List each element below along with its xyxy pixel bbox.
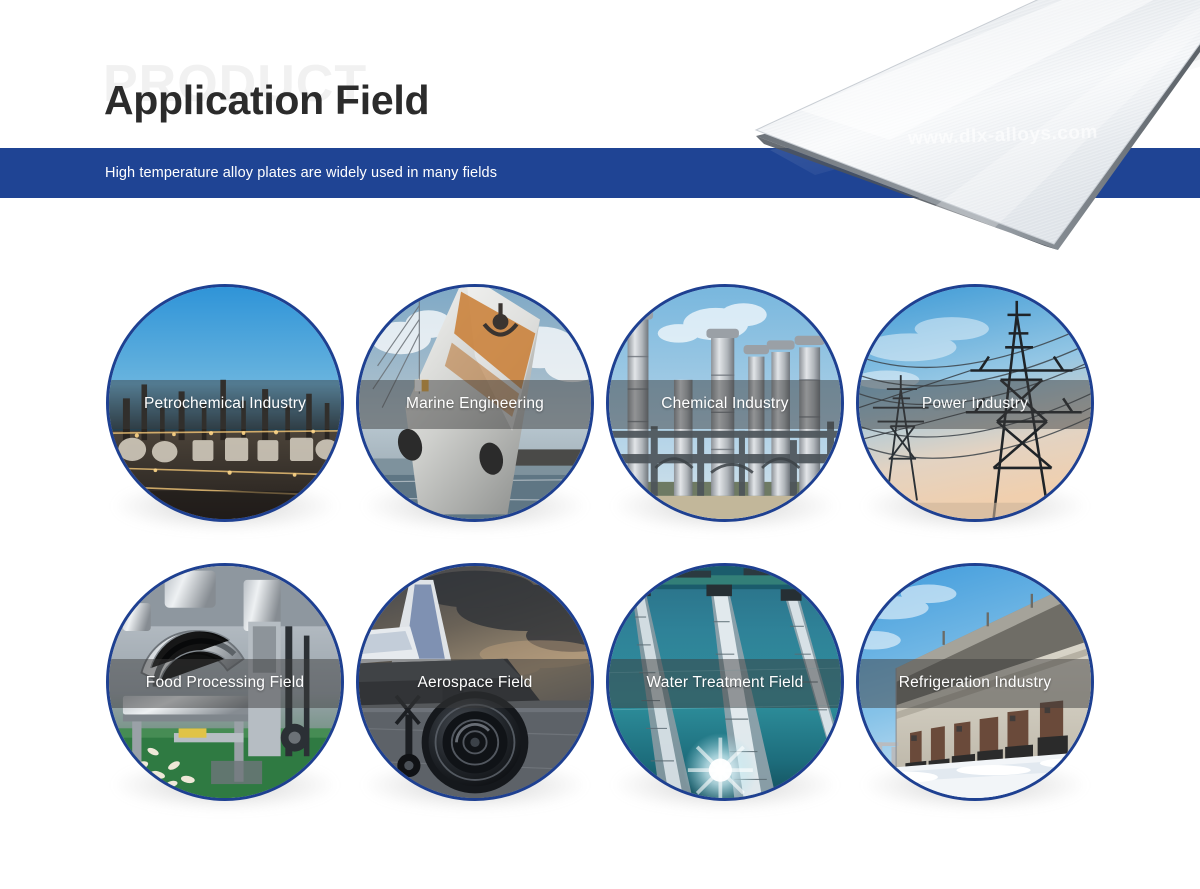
card-image-frame: Refrigeration Industry (856, 563, 1094, 801)
card-label-band: Refrigeration Industry (859, 659, 1091, 708)
card-image-frame: Aerospace Field (356, 563, 594, 801)
card-label-band: Water Treatment Field (609, 659, 841, 708)
application-field-slide: PRODUCT Application Field High temperatu… (0, 0, 1200, 889)
card-food-processing-field[interactable]: Food Processing Field (106, 563, 344, 801)
card-label-band: Chemical Industry (609, 380, 841, 429)
card-label-band: Power Industry (859, 380, 1091, 429)
card-image-frame: Water Treatment Field (606, 563, 844, 801)
card-label-band: Petrochemical Industry (109, 380, 341, 429)
card-marine-engineering[interactable]: Marine Engineering (356, 284, 594, 522)
card-aerospace-field[interactable]: Aerospace Field (356, 563, 594, 801)
card-label-band: Aerospace Field (359, 659, 591, 708)
card-label: Marine Engineering (406, 395, 544, 413)
card-label-band: Food Processing Field (109, 659, 341, 708)
card-label: Power Industry (922, 395, 1028, 413)
card-image-frame: Power Industry (856, 284, 1094, 522)
card-label: Chemical Industry (661, 395, 788, 413)
card-image-frame: Marine Engineering (356, 284, 594, 522)
card-water-treatment-field[interactable]: Water Treatment Field (606, 563, 844, 801)
card-power-industry[interactable]: Power Industry (856, 284, 1094, 522)
card-petrochemical-industry[interactable]: Petrochemical Industry (106, 284, 344, 522)
card-label-band: Marine Engineering (359, 380, 591, 429)
card-label: Refrigeration Industry (899, 674, 1052, 692)
card-image-frame: Petrochemical Industry (106, 284, 344, 522)
card-chemical-industry[interactable]: Chemical Industry (606, 284, 844, 522)
card-image-frame: Chemical Industry (606, 284, 844, 522)
application-field-grid: Petrochemical Industry (0, 0, 1200, 889)
card-label: Petrochemical Industry (144, 395, 306, 413)
card-label: Water Treatment Field (647, 674, 804, 692)
card-image-frame: Food Processing Field (106, 563, 344, 801)
card-label: Food Processing Field (146, 674, 304, 692)
card-refrigeration-industry[interactable]: Refrigeration Industry (856, 563, 1094, 801)
card-label: Aerospace Field (417, 674, 532, 692)
